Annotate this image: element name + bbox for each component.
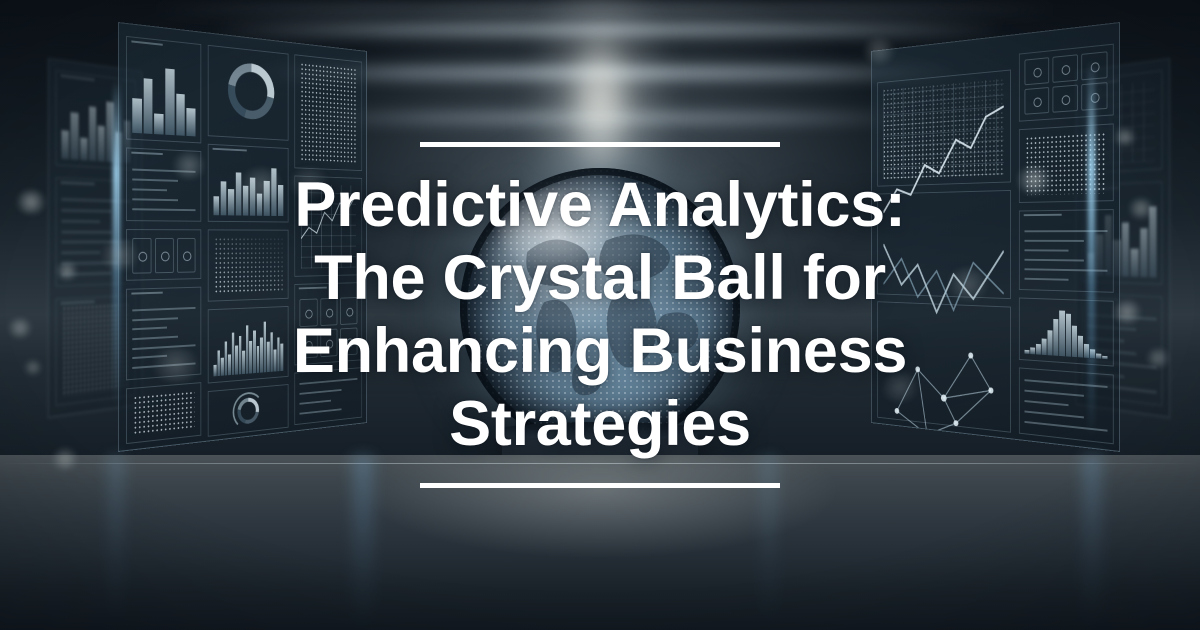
title-line-2: The Crystal Ball for	[314, 243, 886, 313]
bottom-divider-rule	[420, 483, 780, 488]
top-divider-rule	[420, 142, 780, 147]
title-line-3: Enhancing Business	[293, 316, 907, 386]
page-title: Predictive Analytics: The Crystal Ball f…	[293, 169, 907, 461]
title-line-1: Predictive Analytics:	[294, 170, 905, 240]
banner-stage: Predictive Analytics: The Crystal Ball f…	[0, 0, 1200, 630]
title-line-4: Strategies	[449, 389, 751, 459]
hero-content: Predictive Analytics: The Crystal Ball f…	[0, 0, 1200, 630]
